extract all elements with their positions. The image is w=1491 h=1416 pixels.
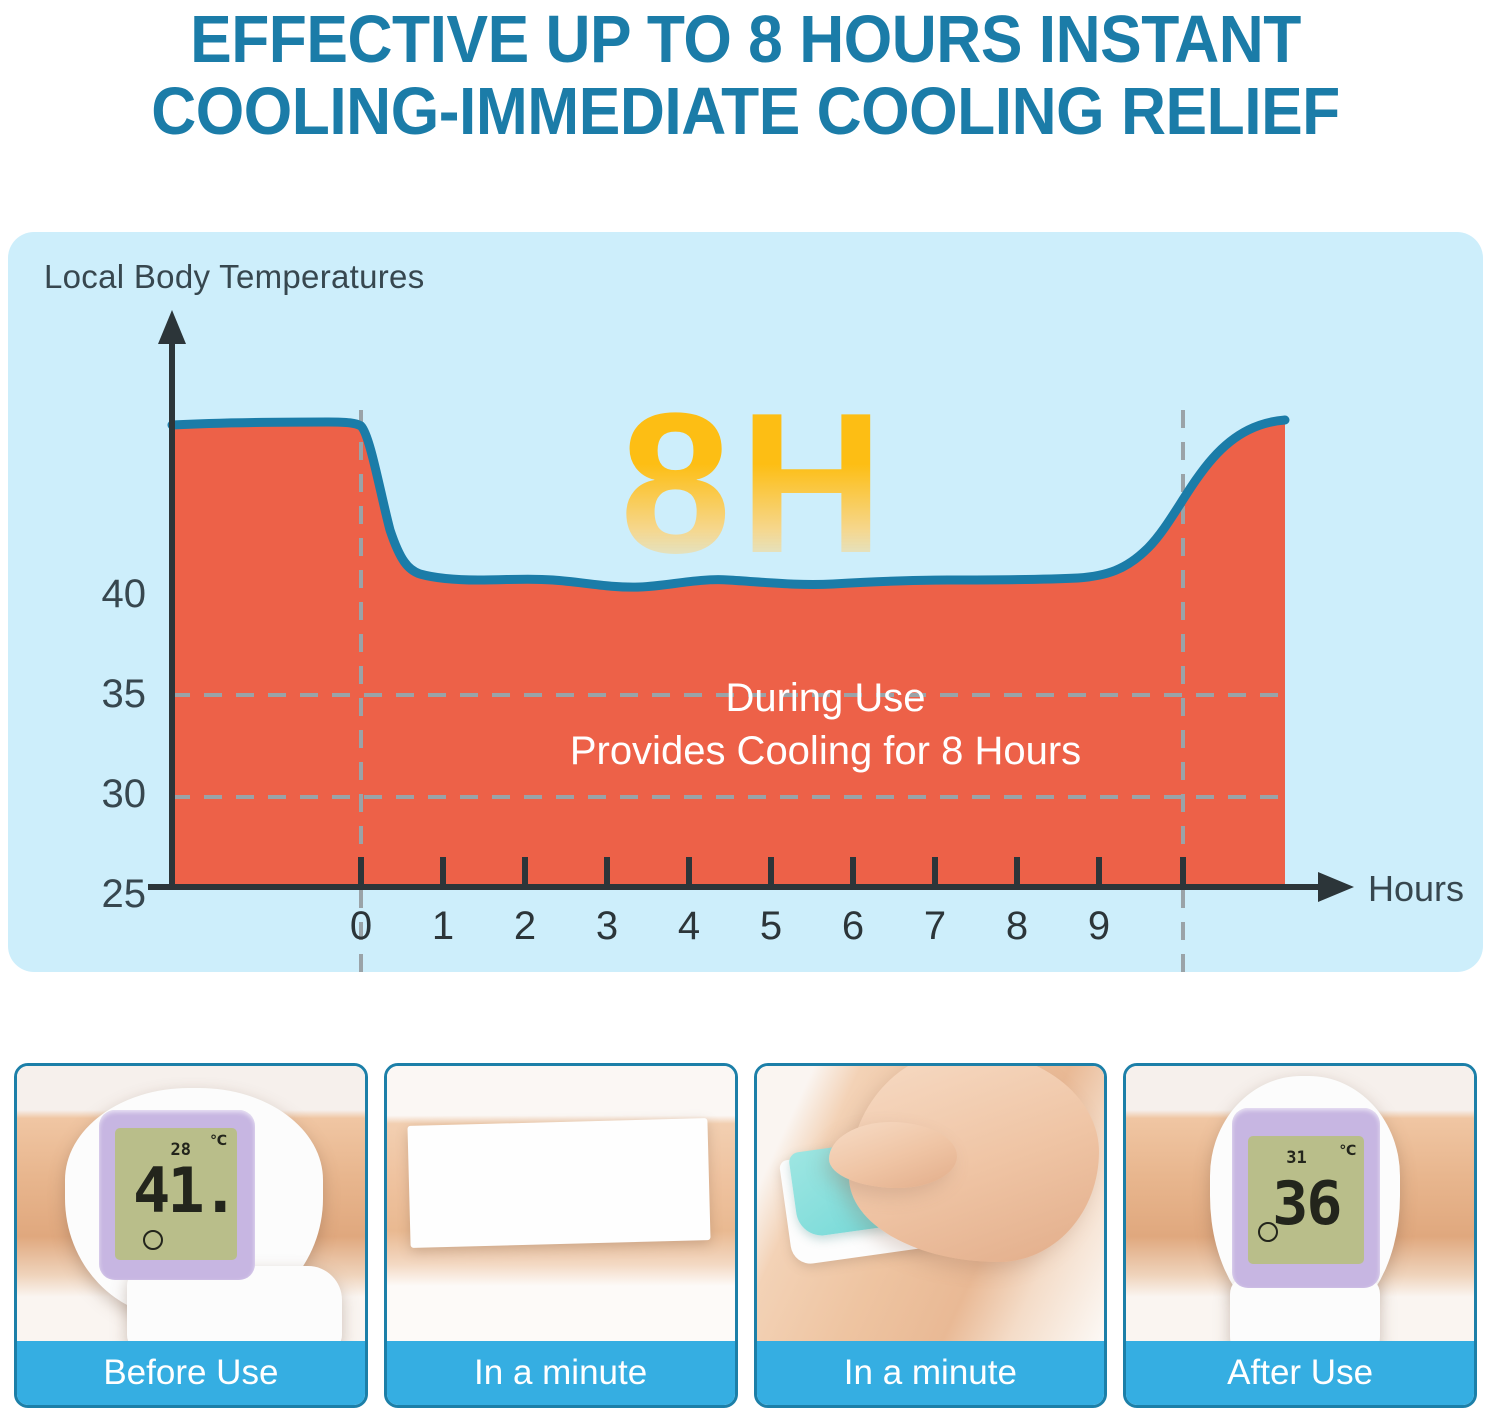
- y-tick-label-25: 25: [74, 872, 146, 917]
- chart-annotation: During Use Provides Cooling for 8 Hours: [8, 672, 1483, 778]
- x-tick-label-1: 1: [421, 904, 465, 949]
- x-tick-label-9: 9: [1077, 904, 1121, 949]
- x-tick-label-0: 0: [339, 904, 383, 949]
- panel-after-use[interactable]: 31 ℃ 36 After Use: [1123, 1063, 1477, 1408]
- panel-applying-patch[interactable]: In a minute: [754, 1063, 1108, 1408]
- panel-caption-applying-patch: In a minute: [757, 1341, 1105, 1405]
- cooling-patch: [407, 1118, 710, 1248]
- x-tick-label-8: 8: [995, 904, 1039, 949]
- x-axis-arrow-icon: [1318, 872, 1354, 902]
- x-tick-label-3: 3: [585, 904, 629, 949]
- x-tick-label-7: 7: [913, 904, 957, 949]
- photo-thermometer-after: 31 ℃ 36: [1126, 1066, 1474, 1341]
- y-tick-label-30: 30: [74, 772, 146, 817]
- chart-area-fill: [172, 422, 1285, 887]
- page-title-line-1: EFFECTIVE UP TO 8 HOURS INSTANT: [52, 4, 1439, 76]
- lcd-temperature-value: 36: [1272, 1174, 1340, 1234]
- x-tick-label-2: 2: [503, 904, 547, 949]
- lcd-ambient-value: 31: [1286, 1150, 1306, 1167]
- temperature-area-chart: [8, 232, 1483, 972]
- y-axis-arrow-icon: [158, 310, 186, 344]
- panel-before-use[interactable]: 28 ℃ 41.2 Before Use: [14, 1063, 368, 1408]
- page-title-line-2: COOLING-IMMEDIATE COOLING RELIEF: [52, 76, 1439, 148]
- lcd-unit-celsius: ℃: [1339, 1144, 1356, 1158]
- x-tick-label-6: 6: [831, 904, 875, 949]
- smiley-face-icon: [1258, 1222, 1278, 1242]
- lcd-temperature-value: 41.2: [133, 1160, 237, 1222]
- panel-patch-applied[interactable]: In a minute: [384, 1063, 738, 1408]
- chart-annotation-line-1: During Use: [168, 672, 1483, 725]
- panel-caption-after-use: After Use: [1126, 1341, 1474, 1405]
- thumb: [829, 1122, 957, 1188]
- panel-caption-patch-applied: In a minute: [387, 1341, 735, 1405]
- thermometer-lcd: 28 ℃ 41.2: [115, 1128, 237, 1260]
- panel-caption-before-use: Before Use: [17, 1341, 365, 1405]
- thermometer-lcd: 31 ℃ 36: [1248, 1136, 1364, 1264]
- sad-face-icon: [143, 1230, 163, 1250]
- photo-thermometer-before: 28 ℃ 41.2: [17, 1066, 365, 1341]
- chart-annotation-line-2: Provides Cooling for 8 Hours: [168, 725, 1483, 778]
- chart-panel: Local Body Temperatures: [8, 232, 1483, 972]
- usage-step-panels: 28 ℃ 41.2 Before Use In a minute In a mi…: [14, 1063, 1477, 1408]
- x-tick-label-4: 4: [667, 904, 711, 949]
- lcd-unit-celsius: ℃: [210, 1134, 227, 1148]
- photo-patch-on-arm: [387, 1066, 735, 1341]
- x-axis-label: Hours: [1368, 868, 1464, 910]
- y-tick-label-40: 40: [74, 572, 146, 617]
- page-title: EFFECTIVE UP TO 8 HOURS INSTANT COOLING-…: [52, 0, 1439, 148]
- x-tick-label-5: 5: [749, 904, 793, 949]
- photo-hand-applying-patch: [757, 1066, 1105, 1341]
